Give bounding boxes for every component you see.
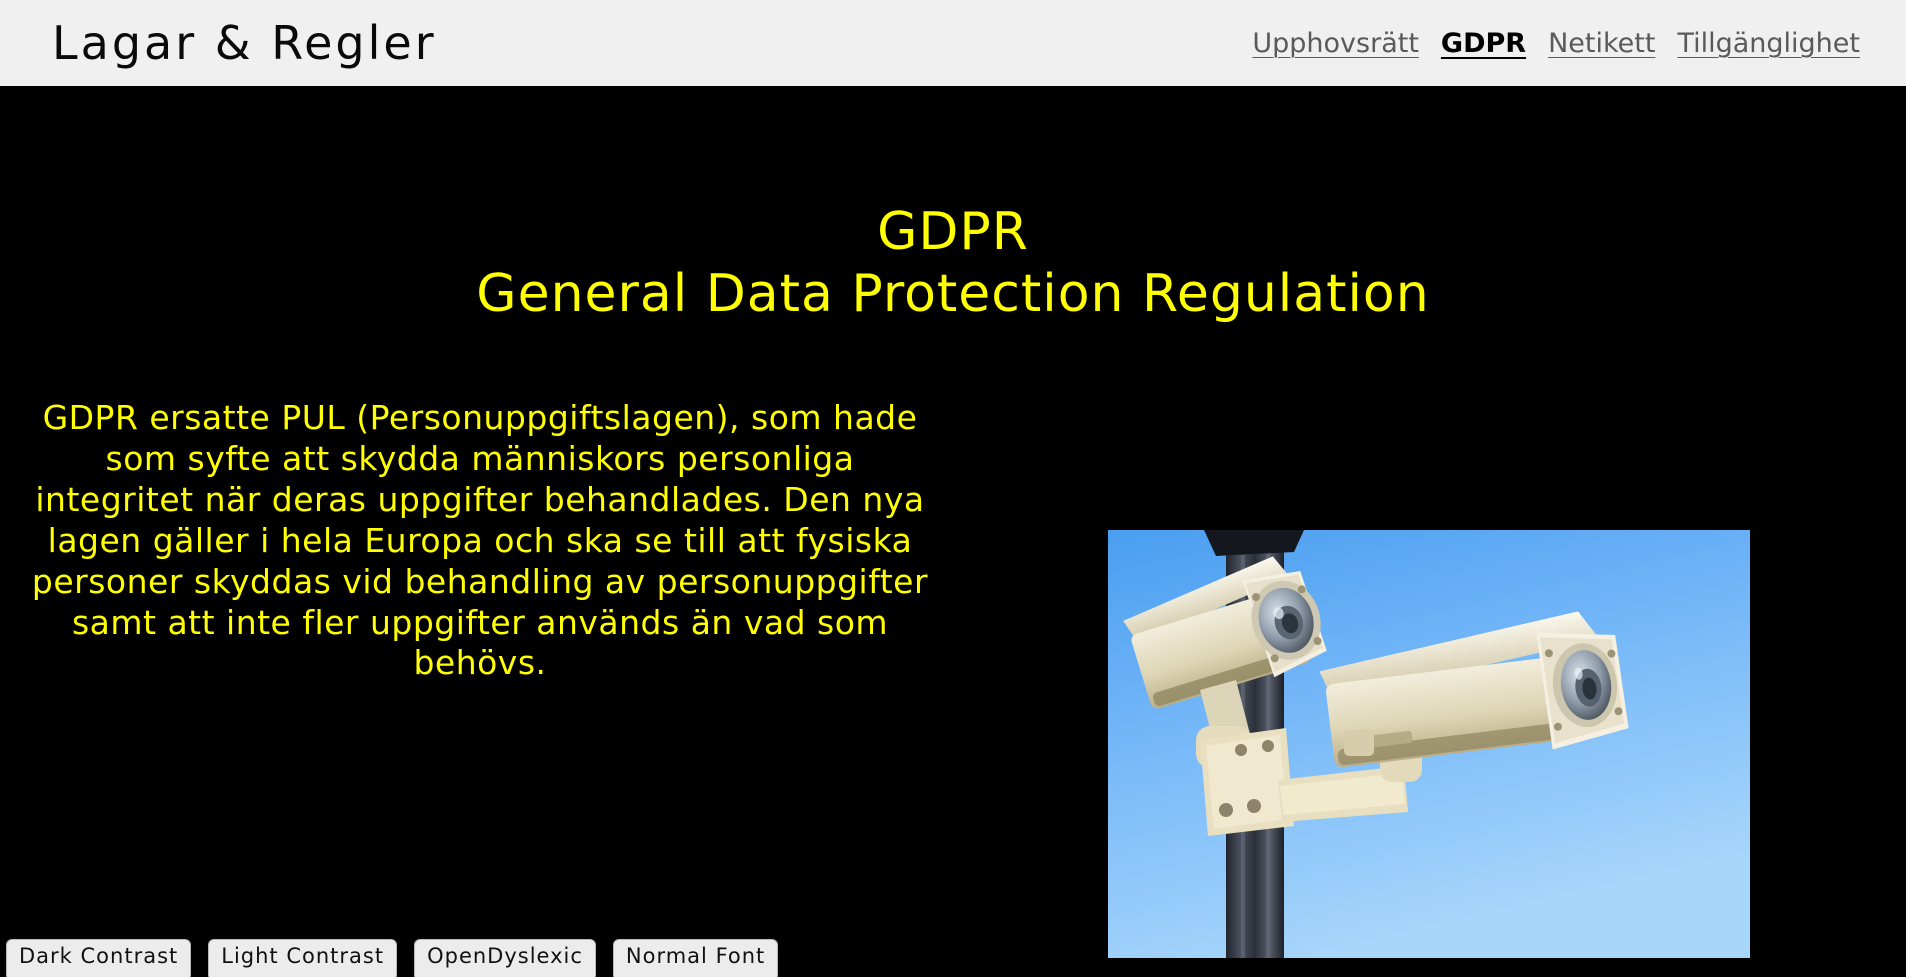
main-navigation: Upphovsrätt GDPR Netikett Tillgänglighet <box>1252 30 1906 57</box>
gdpr-fullname-heading: General Data Protection Regulation <box>0 266 1906 322</box>
accessibility-toolbar: Dark Contrast Light Contrast OpenDyslexi… <box>0 939 1906 977</box>
gdpr-abbreviation-heading: GDPR <box>0 204 1906 260</box>
gdpr-heading-block: GDPR General Data Protection Regulation <box>0 204 1906 322</box>
nav-link-upphovsratt[interactable]: Upphovsrätt <box>1252 30 1419 57</box>
main-content: GDPR General Data Protection Regulation … <box>0 86 1906 977</box>
nav-link-gdpr[interactable]: GDPR <box>1441 30 1526 57</box>
content-row: GDPR ersatte PUL (Personuppgiftslagen), … <box>0 366 1906 926</box>
normal-font-button[interactable]: Normal Font <box>613 939 778 977</box>
nav-link-tillganglighet[interactable]: Tillgänglighet <box>1677 30 1860 57</box>
page-title: Lagar & Regler <box>0 20 437 66</box>
gdpr-intro-paragraph: GDPR ersatte PUL (Personuppgiftslagen), … <box>24 398 936 684</box>
light-contrast-button[interactable]: Light Contrast <box>208 939 397 977</box>
site-header: Lagar & Regler Upphovsrätt GDPR Netikett… <box>0 0 1906 86</box>
nav-link-netikett[interactable]: Netikett <box>1548 30 1655 57</box>
surveillance-cameras-photo <box>1108 530 1750 958</box>
open-dyslexic-button[interactable]: OpenDyslexic <box>414 939 596 977</box>
dark-contrast-button[interactable]: Dark Contrast <box>6 939 191 977</box>
